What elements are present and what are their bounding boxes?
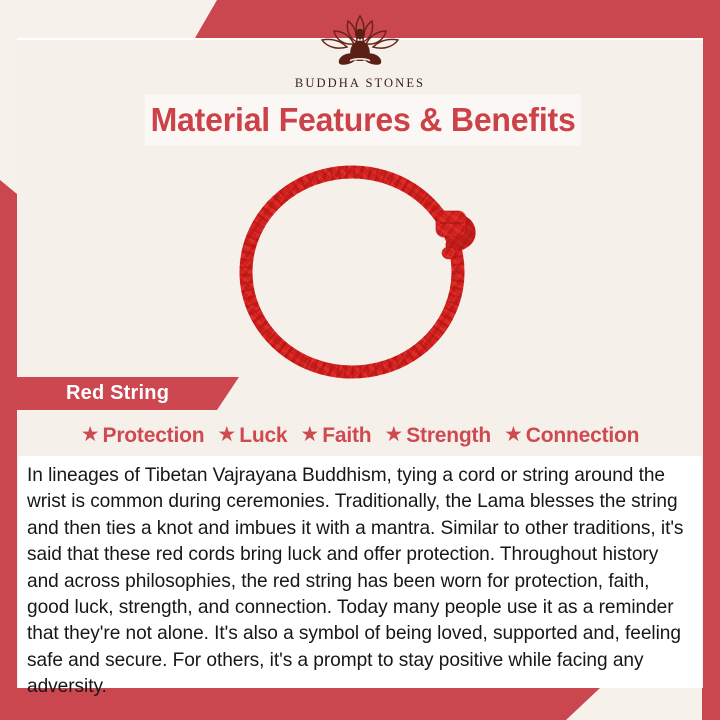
product-label: Red String — [66, 382, 169, 405]
description-panel: In lineages of Tibetan Vajrayana Buddhis… — [18, 456, 702, 688]
frame-right-accent — [702, 0, 720, 720]
benefit-item-strength: ★ Strength — [384, 424, 491, 448]
benefits-list: ★ Protection ★ Luck ★ Faith ★ Strength ★… — [17, 419, 703, 452]
star-icon: ★ — [384, 424, 403, 445]
benefit-item-connection: ★ Connection — [504, 424, 639, 448]
star-icon: ★ — [504, 424, 523, 445]
benefit-item-protection: ★ Protection — [81, 424, 205, 448]
product-label-banner: Red String — [17, 377, 239, 410]
brand-name: BUDDHA STONES — [295, 76, 425, 91]
page-title: Material Features & Benefits — [150, 101, 575, 139]
lotus-meditation-icon — [312, 12, 408, 74]
brand-logo: BUDDHA STONES — [0, 12, 720, 91]
benefit-label: Strength — [406, 424, 491, 448]
star-icon: ★ — [217, 424, 236, 445]
benefit-label: Luck — [239, 424, 287, 448]
benefit-item-luck: ★ Luck — [217, 424, 287, 448]
benefit-label: Connection — [526, 424, 640, 448]
benefit-label: Faith — [322, 424, 371, 448]
benefit-label: Protection — [103, 424, 205, 448]
title-banner: Material Features & Benefits — [145, 94, 581, 146]
frame-left-accent — [0, 180, 17, 720]
star-icon: ★ — [81, 424, 100, 445]
red-string-bracelet-icon — [230, 157, 490, 379]
product-image — [17, 150, 703, 385]
description-text: In lineages of Tibetan Vajrayana Buddhis… — [27, 463, 688, 701]
infographic-page: BUDDHA STONES Material Features & Benefi… — [0, 0, 720, 720]
benefit-item-faith: ★ Faith — [300, 424, 371, 448]
star-icon: ★ — [300, 424, 319, 445]
